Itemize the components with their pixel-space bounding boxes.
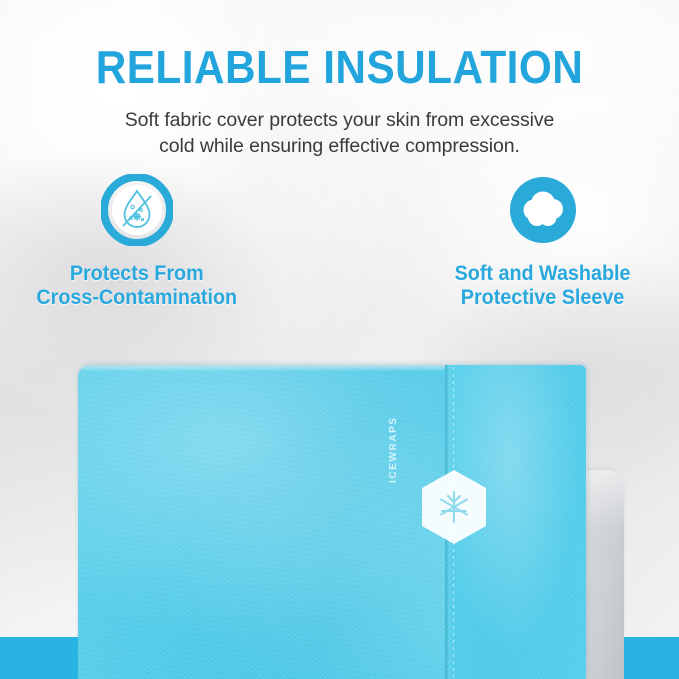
subtitle-line-1: Soft fabric cover protects your skin fro… (0, 108, 679, 134)
product-feature-banner: RELIABLE INSULATION Soft fabric cover pr… (0, 0, 679, 679)
bottom-band-left (0, 637, 78, 679)
snowflake-hexagon-badge (418, 467, 490, 547)
feature-label-line-1: Protects From (36, 262, 237, 286)
feature-list: Protects From Cross-Contamination Soft a… (0, 174, 679, 311)
subtitle: Soft fabric cover protects your skin fro… (0, 108, 679, 160)
feature-label-line-2: Protective Sleeve (455, 286, 631, 310)
page-title: RELIABLE INSULATION (27, 44, 652, 90)
subtitle-line-2: cold while ensuring effective compressio… (0, 134, 679, 160)
feature-label-line-2: Cross-Contamination (36, 286, 237, 310)
feature-item-cross-contamination: Protects From Cross-Contamination (32, 174, 242, 311)
brand-badge-group: ICEWRAPS (390, 465, 510, 555)
brand-name-label: ICEWRAPS (388, 416, 399, 483)
bottom-band-right (624, 637, 679, 679)
cloud-soft-icon (507, 174, 579, 246)
feature-item-soft-washable: Soft and Washable Protective Sleeve (438, 174, 648, 311)
feature-label-cross-contamination: Protects From Cross-Contamination (36, 262, 237, 311)
feature-label-soft-washable: Soft and Washable Protective Sleeve (455, 262, 631, 311)
water-droplet-no-germs-icon (101, 174, 173, 246)
feature-label-line-1: Soft and Washable (455, 262, 631, 286)
product-photo: ICEWRAPS (0, 330, 679, 679)
